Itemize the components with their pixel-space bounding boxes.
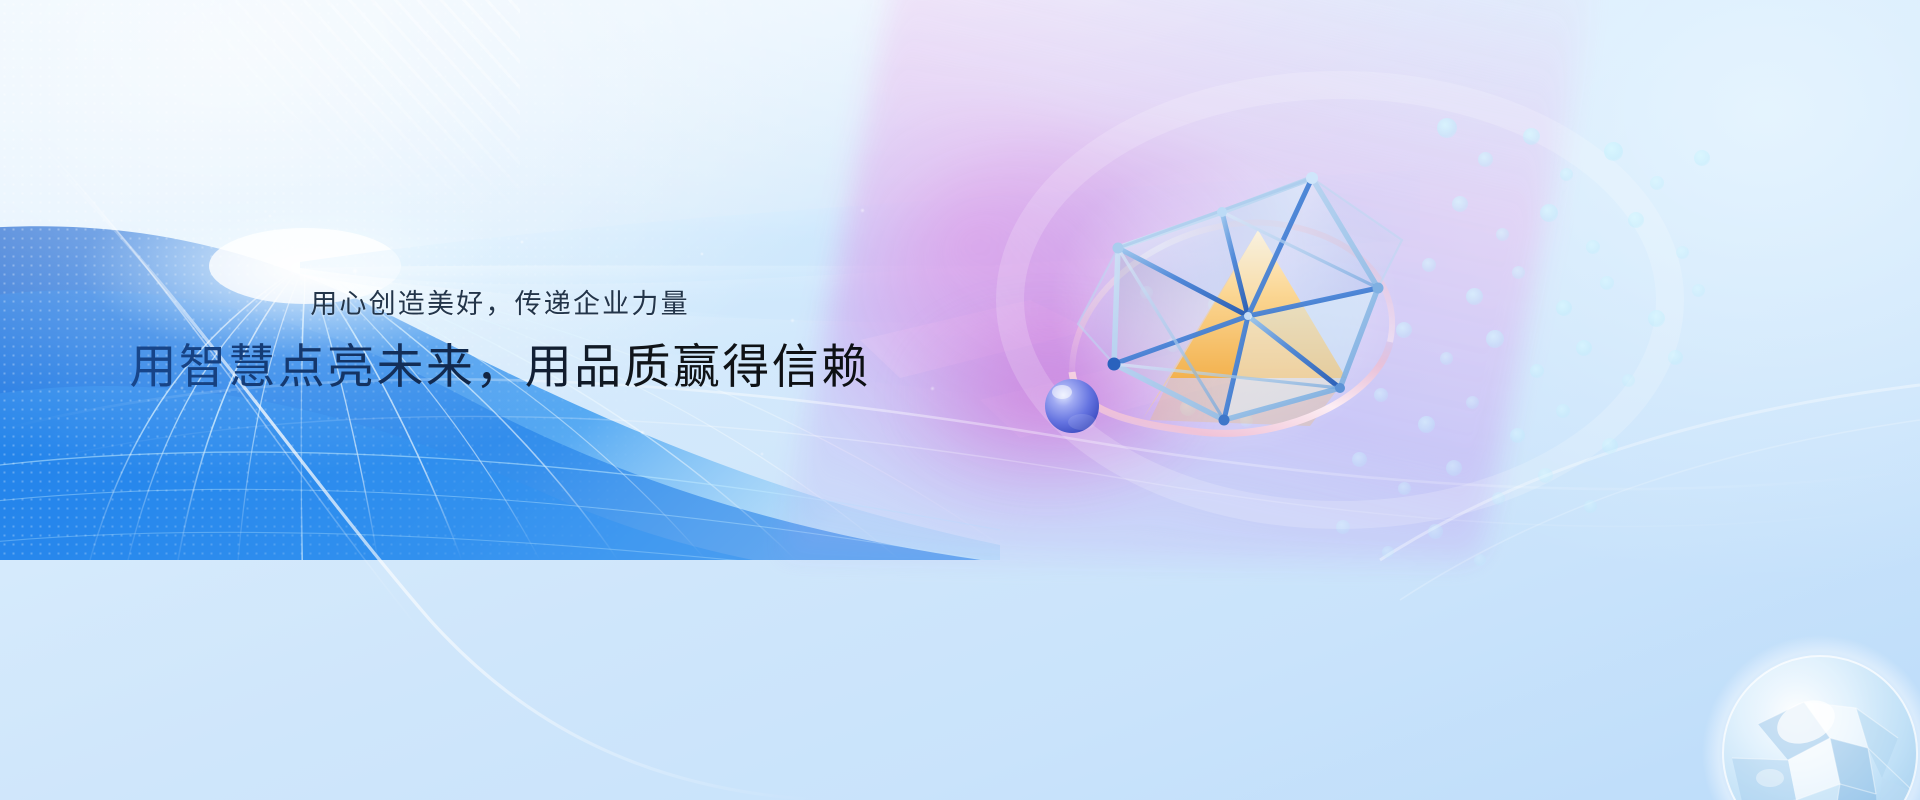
hero-banner: 用心创造美好，传递企业力量 用智慧点亮未来，用品质赢得信赖 [0,0,1920,800]
banner-copy: 用心创造美好，传递企业力量 用智慧点亮未来，用品质赢得信赖 [0,286,1000,398]
crystal-sphere-graphic [1700,628,1920,800]
banner-headline: 用智慧点亮未来，用品质赢得信赖 [0,336,1000,398]
banner-subtitle: 用心创造美好，传递企业力量 [0,286,1000,322]
polyhedron-3d-graphic [1010,120,1430,480]
orbit-sphere [1045,379,1099,433]
